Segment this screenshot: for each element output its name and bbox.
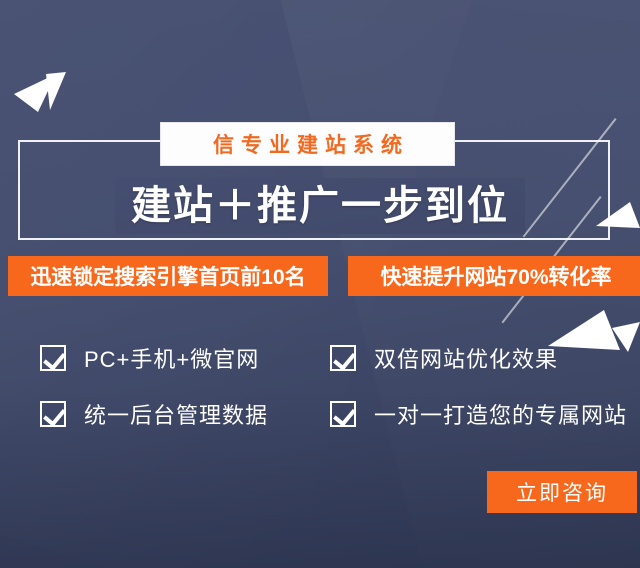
feature-label: PC+手机+微官网 xyxy=(84,342,259,374)
checkbox-checked-icon xyxy=(330,345,356,371)
feature-row: 统一后台管理数据 一对一打造您的专属网站 xyxy=(0,386,640,442)
kicker-text: 信专业建站系统 xyxy=(206,129,409,159)
claim-bar-right-text: 快速提升网站70%转化率 xyxy=(380,261,611,291)
consult-now-button[interactable]: 立即咨询 xyxy=(487,471,637,513)
claim-bar-left-text: 迅速锁定搜索引擎首页前10名 xyxy=(30,261,305,291)
checkbox-checked-icon xyxy=(40,401,66,427)
checkbox-checked-icon xyxy=(40,345,66,371)
headline-text: 建站＋推广一步到位 xyxy=(115,178,525,234)
consult-now-button-label: 立即咨询 xyxy=(516,477,608,507)
feature-item: 一对一打造您的专属网站 xyxy=(320,386,640,442)
checkbox-checked-icon xyxy=(330,401,356,427)
feature-item: 统一后台管理数据 xyxy=(0,386,320,442)
feature-label: 双倍网站优化效果 xyxy=(374,342,558,374)
kicker-badge: 信专业建站系统 xyxy=(160,122,455,166)
feature-list: PC+手机+微官网 双倍网站优化效果 统一后台管理数据 一对一打造您的专属网站 xyxy=(0,330,640,442)
claim-bar-left: 迅速锁定搜索引擎首页前10名 xyxy=(8,256,328,296)
feature-item: PC+手机+微官网 xyxy=(0,330,320,386)
feature-item: 双倍网站优化效果 xyxy=(320,330,640,386)
claim-bar-right: 快速提升网站70%转化率 xyxy=(348,256,640,296)
headline: 建站＋推广一步到位 xyxy=(0,178,640,234)
promo-banner: 信专业建站系统 建站＋推广一步到位 迅速锁定搜索引擎首页前10名 快速提升网站7… xyxy=(0,0,640,568)
feature-row: PC+手机+微官网 双倍网站优化效果 xyxy=(0,330,640,386)
feature-label: 一对一打造您的专属网站 xyxy=(374,398,627,430)
paper-plane-icon xyxy=(12,58,74,116)
feature-label: 统一后台管理数据 xyxy=(84,398,268,430)
